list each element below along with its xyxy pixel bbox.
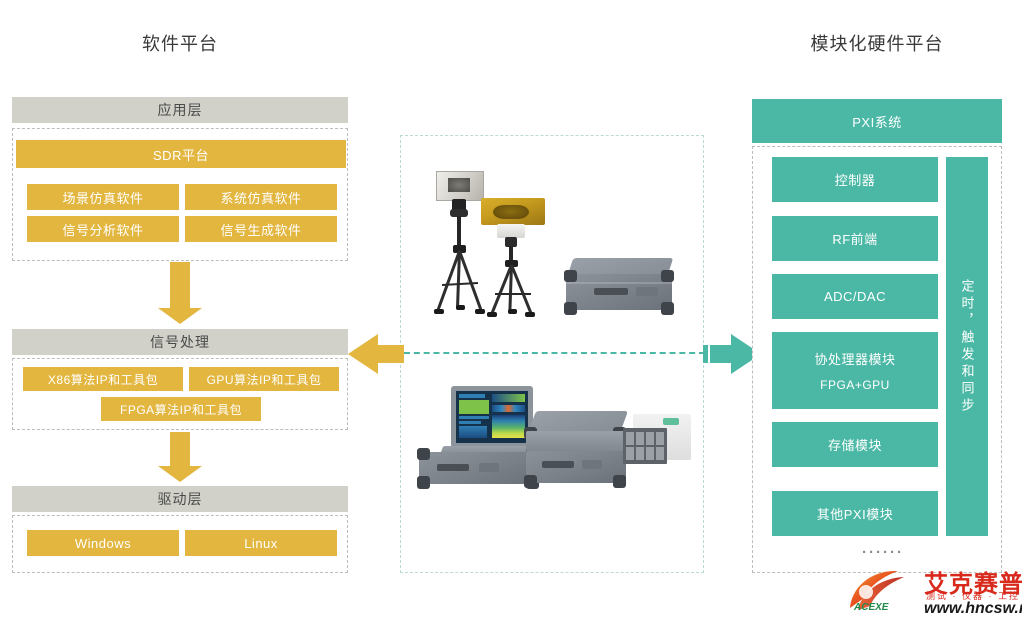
signal-item-gpu[interactable]: GPU算法IP和工具包 [189, 367, 339, 391]
coprocessor-sublabel: FPGA+GPU [820, 378, 890, 392]
rugged-case-upper [564, 258, 677, 320]
hw-module-controller[interactable]: 控制器 [772, 157, 938, 202]
pxi-chassis [623, 414, 695, 476]
arrow-signal-to-driver [158, 432, 202, 482]
hardware-platform-title: 模块化硬件平台 [742, 30, 1012, 56]
equipment-panel [400, 135, 704, 573]
antenna-tripod-2 [479, 198, 571, 320]
hw-module-rf-frontend[interactable]: RF前端 [772, 216, 938, 261]
driver-item-linux[interactable]: Linux [185, 530, 337, 556]
company-logo: ACEXE 艾克赛普 测试 · 仪器 · 工控 · 集成 www.hncsw.n… [846, 562, 1022, 618]
arrow-hardware-to-software [348, 334, 406, 374]
link-dashed-line [404, 352, 705, 354]
coprocessor-label: 协处理器模块 [814, 349, 895, 368]
app-item-scene-simulation[interactable]: 场景仿真软件 [27, 184, 179, 210]
signal-item-fpga[interactable]: FPGA算法IP和工具包 [101, 397, 261, 421]
sdr-platform-block[interactable]: SDR平台 [16, 140, 346, 168]
hw-module-coprocessor[interactable]: 协处理器模块 FPGA+GPU [772, 332, 938, 409]
app-item-signal-generation[interactable]: 信号生成软件 [185, 216, 337, 242]
pxi-system-header: PXI系统 [752, 99, 1002, 143]
diagram-canvas: 软件平台 模块化硬件平台 应用层 SDR平台 场景仿真软件 系统仿真软件 信号分… [0, 0, 1022, 618]
application-layer-header: 应用层 [12, 97, 348, 123]
driver-item-windows[interactable]: Windows [27, 530, 179, 556]
hw-module-other-pxi[interactable]: 其他PXI模块 [772, 491, 938, 536]
rugged-case-lower [524, 401, 634, 491]
hw-module-adc-dac[interactable]: ADC/DAC [772, 274, 938, 319]
timing-trigger-sync-bar: 定时，触发和同步 [946, 157, 988, 536]
arrow-app-to-signal [158, 262, 202, 324]
logo-website-url: www.hncsw.net [924, 600, 1022, 618]
signal-processing-body: X86算法IP和工具包 GPU算法IP和工具包 FPGA算法IP和工具包 [12, 358, 348, 430]
ellipsis-dots: ······ [862, 544, 904, 561]
app-item-system-simulation[interactable]: 系统仿真软件 [185, 184, 337, 210]
svg-text:ACEXE: ACEXE [853, 602, 889, 612]
logo-mark-icon: ACEXE [846, 568, 924, 612]
driver-layer-header: 驱动层 [12, 486, 348, 512]
application-layer-body: SDR平台 场景仿真软件 系统仿真软件 信号分析软件 信号生成软件 [12, 128, 348, 261]
hw-module-storage[interactable]: 存储模块 [772, 422, 938, 467]
signal-processing-header: 信号处理 [12, 329, 348, 355]
software-platform-title: 软件平台 [0, 30, 360, 56]
app-item-signal-analysis[interactable]: 信号分析软件 [27, 216, 179, 242]
signal-item-x86[interactable]: X86算法IP和工具包 [23, 367, 183, 391]
driver-layer-body: Windows Linux [12, 515, 348, 573]
